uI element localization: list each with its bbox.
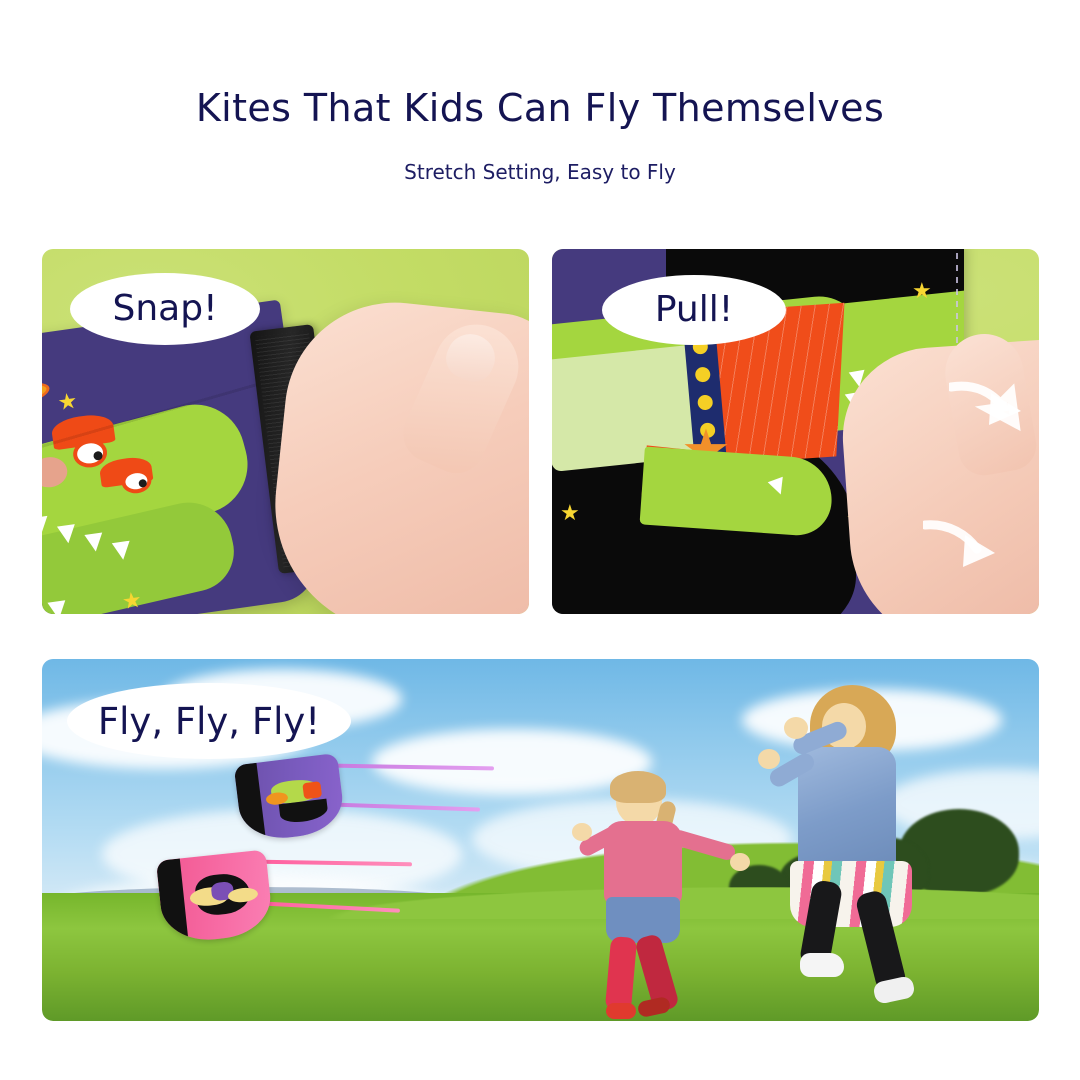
dragon-head [56,419,158,511]
speech-bubble-fly: Fly, Fly, Fly! [67,683,351,759]
kite-canopy [234,753,347,843]
page-title: Kites That Kids Can Fly Themselves [0,86,1080,130]
panel-snap: ★ ★ Snap! [42,249,529,614]
dragon-tail-green [640,446,835,537]
dragon-crest [50,412,116,450]
dragon-crest-secondary [98,455,153,488]
dragon-body [42,393,259,577]
dragon-tooth [47,600,67,614]
dragon-eye-small [120,467,153,495]
panel-pull: ★ ★ ★ ★ Pull! [552,249,1039,614]
child-hand [784,717,808,739]
star-icon: ★ [56,391,79,416]
dragon-tooth [112,541,132,561]
panel-fly: Fly, Fly, Fly! [42,659,1039,1021]
child-hand [572,823,592,841]
star-icon: ★ [560,503,580,525]
dragon-eye-large [71,437,109,469]
dragon-cheek [42,455,69,490]
speech-bubble-snap: Snap! [70,273,260,345]
kite-flying-purple [234,753,347,843]
child-shoe [606,1003,636,1019]
product-infographic: Kites That Kids Can Fly Themselves Stret… [0,0,1080,1080]
speech-bubble-pull: Pull! [602,275,786,345]
child-hair [610,771,666,803]
kite-art-shadow [279,799,329,825]
kite-orange-ellipse-icon [42,377,52,415]
child-shoe [637,996,672,1018]
child-leg [605,936,637,1012]
arrow-right-icon [949,377,1025,433]
child-hand [730,853,750,871]
header: Kites That Kids Can Fly Themselves Stret… [0,0,1080,184]
child-front [582,775,772,1021]
kite-art-detail [302,781,322,799]
child-shoe [800,953,844,977]
dragon-tooth [42,516,50,536]
child-hand [758,749,780,769]
star-icon: ★ [912,281,932,303]
kite-canopy [156,849,274,944]
star-icon: ★ [121,590,144,614]
kite-flying-pink [156,849,274,944]
child-back [762,685,992,1005]
arrow-right-icon [923,517,999,573]
page-subtitle: Stretch Setting, Easy to Fly [0,160,1080,184]
dragon-tooth [57,524,77,544]
dragon-tooth [84,532,104,552]
dragon-body-lower [42,494,242,614]
